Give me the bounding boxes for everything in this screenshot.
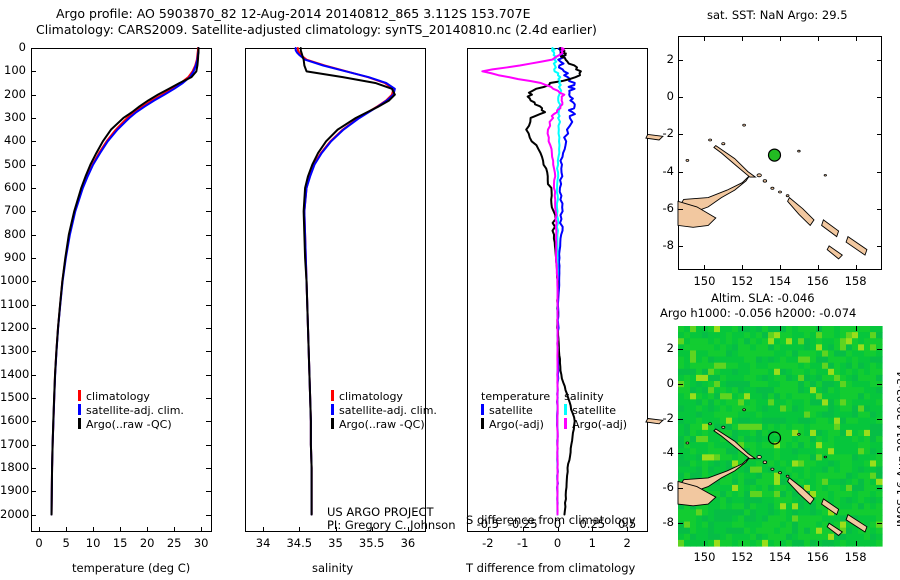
- axis-tick: [678, 419, 683, 420]
- axis-tick: [147, 527, 148, 532]
- legend-label: satellite-adj. clim.: [339, 404, 437, 417]
- depth-tick-label: 1300: [0, 343, 26, 357]
- axis-tick: [818, 265, 819, 270]
- axis-tick: [206, 48, 211, 49]
- axis-tick: [488, 527, 489, 532]
- axis-tick: [206, 351, 211, 352]
- axis-tick: [818, 36, 819, 41]
- axis-tick: [704, 326, 705, 331]
- temperature-plot-svg: [31, 48, 212, 532]
- legend-group-title-temperature: temperature: [481, 390, 564, 403]
- axis-tick: [780, 541, 781, 546]
- axis-tick: [206, 491, 211, 492]
- color-swatch-sal-satellite: [564, 404, 567, 415]
- axis-tick: [206, 375, 211, 376]
- map-lon-tick-label: 158: [836, 274, 876, 288]
- axis-tick: [31, 328, 36, 329]
- depth-tick-label: 1500: [0, 390, 26, 404]
- axis-tick: [31, 258, 36, 259]
- axis-tick: [206, 71, 211, 72]
- axis-tick: [206, 305, 211, 306]
- axis-tick: [592, 527, 593, 532]
- color-swatch-argo: [78, 418, 81, 429]
- axis-tick: [742, 541, 743, 546]
- legend-item: satellite-adj. clim.: [78, 404, 184, 417]
- depth-tick-label: 200: [0, 87, 26, 101]
- page-title-line2: Climatology: CARS2009. Satellite-adjuste…: [36, 22, 597, 37]
- salinity-plot-svg: [245, 48, 426, 532]
- axis-tick: [39, 527, 40, 532]
- axis-tick: [877, 419, 882, 420]
- axis-tick: [678, 134, 683, 135]
- difference-legend: temperature salinity satellite satellite…: [481, 390, 627, 431]
- axis-tick: [780, 36, 781, 41]
- axis-tick: [263, 527, 264, 532]
- color-swatch-temp-satellite: [481, 404, 484, 415]
- axis-tick: [31, 95, 36, 96]
- map-lon-tick-label: 150: [684, 274, 724, 288]
- map-lat-tick-label: -2: [648, 126, 674, 140]
- legend-label: satellite: [489, 404, 533, 417]
- axis-tick: [877, 209, 882, 210]
- axis-tick: [31, 398, 36, 399]
- axis-tick: [678, 209, 683, 210]
- axis-tick: [678, 97, 683, 98]
- axis-tick: [877, 384, 882, 385]
- axis-tick: [206, 188, 211, 189]
- temperature-axis-label: temperature (deg C): [72, 561, 190, 575]
- axis-tick: [206, 328, 211, 329]
- axis-tick: [206, 235, 211, 236]
- axis-tick: [558, 527, 559, 532]
- imos-timestamp: IMOS 16-Aug-2014 20:02:34: [895, 371, 900, 527]
- map-lat-tick-label: -4: [648, 445, 674, 459]
- map-lat-tick-label: 2: [648, 52, 674, 66]
- axis-tick: [31, 71, 36, 72]
- axis-tick: [31, 118, 36, 119]
- map-lon-tick-label: 150: [684, 550, 724, 564]
- altimeter-sla-text: Altim. SLA: -0.046: [711, 291, 815, 305]
- axis-tick: [206, 118, 211, 119]
- map-lat-tick-label: -4: [648, 164, 674, 178]
- axis-tick: [742, 326, 743, 331]
- project-credit-line1: US ARGO PROJECT: [327, 505, 434, 519]
- map-lon-tick-label: 154: [760, 274, 800, 288]
- axis-tick: [31, 188, 36, 189]
- axis-tick: [780, 326, 781, 331]
- axis-tick: [877, 349, 882, 350]
- axis-tick: [31, 235, 36, 236]
- axis-tick: [877, 172, 882, 173]
- axis-tick: [31, 515, 36, 516]
- legend-item: satellite: [564, 403, 627, 417]
- map-lon-tick-label: 156: [798, 274, 838, 288]
- difference-axis-label-temperature: T difference from climatology: [466, 561, 635, 575]
- depth-tick-label: 400: [0, 133, 26, 147]
- axis-tick: [742, 36, 743, 41]
- salinity-axis-label: salinity: [312, 561, 353, 575]
- legend-item: Argo(-adj): [564, 417, 627, 431]
- axis-tick: [704, 541, 705, 546]
- axis-tick: [299, 527, 300, 532]
- axis-tick-label: 34.5: [279, 536, 319, 550]
- axis-tick: [206, 515, 211, 516]
- depth-tick-label: 300: [0, 110, 26, 124]
- map-lat-tick-label: -8: [648, 238, 674, 252]
- axis-tick: [856, 326, 857, 331]
- color-swatch-temp-argo: [481, 418, 484, 429]
- map-lat-tick-label: 0: [648, 376, 674, 390]
- depth-tick-label: 100: [0, 63, 26, 77]
- axis-tick-label: 36: [388, 536, 428, 550]
- axis-tick-label: 30: [181, 536, 221, 550]
- legend-label: climatology: [86, 390, 150, 403]
- project-credit-line2: PI: Gregory C. Johnson: [327, 518, 456, 532]
- top-map-title: sat. SST: NaN Argo: 29.5: [707, 8, 848, 22]
- axis-tick: [742, 265, 743, 270]
- map-lon-tick-label: 154: [760, 550, 800, 564]
- difference-axis-label-salinity: S difference from climatology: [466, 513, 636, 527]
- axis-tick: [678, 172, 683, 173]
- axis-tick: [201, 527, 202, 532]
- color-swatch-sal-argo: [564, 418, 567, 429]
- legend-label: Argo(..raw -QC): [339, 418, 425, 431]
- legend-label: Argo(..raw -QC): [86, 418, 172, 431]
- map-lon-tick-label: 156: [798, 550, 838, 564]
- axis-tick: [31, 211, 36, 212]
- axis-tick: [678, 453, 683, 454]
- color-swatch-argo: [331, 418, 334, 429]
- axis-tick: [120, 527, 121, 532]
- axis-tick: [206, 468, 211, 469]
- legend-item: satellite: [481, 403, 564, 417]
- depth-tick-label: 0: [0, 40, 26, 54]
- axis-tick: [93, 527, 94, 532]
- legend-item: satellite-adj. clim.: [331, 404, 437, 417]
- depth-tick-label: 600: [0, 180, 26, 194]
- axis-tick: [206, 281, 211, 282]
- axis-tick: [31, 281, 36, 282]
- legend-group-title-salinity: salinity: [564, 390, 627, 403]
- axis-tick: [66, 527, 67, 532]
- axis-tick: [206, 421, 211, 422]
- legend-label: satellite: [572, 404, 616, 417]
- color-swatch-climatology: [78, 390, 81, 401]
- axis-tick: [678, 349, 683, 350]
- salinity-legend: climatology satellite-adj. clim. Argo(..…: [331, 390, 437, 431]
- depth-tick-label: 1900: [0, 483, 26, 497]
- difference-plot-svg: [467, 48, 648, 532]
- axis-tick: [704, 265, 705, 270]
- axis-tick-label: 35.5: [352, 536, 392, 550]
- axis-tick: [31, 375, 36, 376]
- axis-tick: [818, 541, 819, 546]
- axis-tick: [877, 134, 882, 135]
- axis-tick: [678, 60, 683, 61]
- legend-item: climatology: [78, 390, 184, 403]
- page-title-line1: Argo profile: AO 5903870_82 12-Aug-2014 …: [56, 6, 530, 21]
- depth-tick-label: 900: [0, 250, 26, 264]
- axis-tick: [678, 523, 683, 524]
- depth-tick-label: 1000: [0, 273, 26, 287]
- map-lat-tick-label: -2: [648, 411, 674, 425]
- axis-tick: [877, 97, 882, 98]
- map-lat-tick-label: 0: [648, 89, 674, 103]
- axis-tick: [678, 384, 683, 385]
- axis-tick: [678, 488, 683, 489]
- color-swatch-satellite: [331, 404, 334, 415]
- depth-tick-label: 700: [0, 203, 26, 217]
- axis-tick: [206, 258, 211, 259]
- axis-tick: [818, 326, 819, 331]
- depth-tick-label: 800: [0, 227, 26, 241]
- axis-tick: [174, 527, 175, 532]
- axis-tick: [877, 60, 882, 61]
- axis-tick: [523, 527, 524, 532]
- legend-item: Argo(..raw -QC): [331, 418, 437, 431]
- legend-item: Argo(-adj): [481, 417, 564, 431]
- bottom-map-svg: [678, 326, 882, 546]
- axis-tick: [31, 421, 36, 422]
- color-swatch-satellite: [78, 404, 81, 415]
- axis-tick: [31, 141, 36, 142]
- axis-tick: [780, 265, 781, 270]
- axis-tick: [856, 36, 857, 41]
- axis-tick: [877, 488, 882, 489]
- axis-tick-label: 35: [316, 536, 356, 550]
- depth-tick-label: 1600: [0, 413, 26, 427]
- argo-steric-height-text: Argo h1000: -0.056 h2000: -0.074: [660, 306, 856, 320]
- axis-tick: [678, 246, 683, 247]
- depth-tick-label: 2000: [0, 507, 26, 521]
- axis-tick: [877, 453, 882, 454]
- axis-tick: [877, 246, 882, 247]
- legend-label: Argo(-adj): [489, 418, 544, 431]
- axis-tick: [31, 468, 36, 469]
- axis-tick: [206, 211, 211, 212]
- axis-tick: [206, 95, 211, 96]
- axis-tick: [31, 48, 36, 49]
- axis-tick-label: 2: [607, 536, 647, 550]
- legend-label: satellite-adj. clim.: [86, 404, 184, 417]
- axis-tick: [627, 527, 628, 532]
- map-lat-tick-label: -8: [648, 515, 674, 529]
- axis-tick: [206, 445, 211, 446]
- depth-tick-label: 1800: [0, 460, 26, 474]
- map-lat-tick-label: 2: [648, 341, 674, 355]
- legend-item: climatology: [331, 390, 437, 403]
- map-lon-tick-label: 158: [836, 550, 876, 564]
- axis-tick-label: 34: [243, 536, 283, 550]
- axis-tick: [856, 541, 857, 546]
- map-lat-tick-label: -6: [648, 480, 674, 494]
- depth-tick-label: 1400: [0, 367, 26, 381]
- depth-tick-label: 1200: [0, 320, 26, 334]
- depth-tick-label: 1100: [0, 297, 26, 311]
- depth-tick-label: 500: [0, 157, 26, 171]
- axis-tick: [206, 141, 211, 142]
- color-swatch-climatology: [331, 390, 334, 401]
- axis-tick: [31, 491, 36, 492]
- axis-tick: [31, 305, 36, 306]
- axis-tick: [206, 398, 211, 399]
- legend-item: Argo(..raw -QC): [78, 418, 184, 431]
- map-lon-tick-label: 152: [722, 550, 762, 564]
- depth-tick-label: 1700: [0, 437, 26, 451]
- axis-tick: [31, 351, 36, 352]
- axis-tick: [704, 36, 705, 41]
- axis-tick: [31, 165, 36, 166]
- axis-tick: [31, 445, 36, 446]
- axis-tick: [877, 523, 882, 524]
- map-lon-tick-label: 152: [722, 274, 762, 288]
- legend-label: Argo(-adj): [572, 418, 627, 431]
- temperature-legend: climatology satellite-adj. clim. Argo(..…: [78, 390, 184, 431]
- axis-tick: [206, 165, 211, 166]
- map-lat-tick-label: -6: [648, 201, 674, 215]
- axis-tick: [856, 265, 857, 270]
- legend-label: climatology: [339, 390, 403, 403]
- top-map-svg: [678, 36, 882, 270]
